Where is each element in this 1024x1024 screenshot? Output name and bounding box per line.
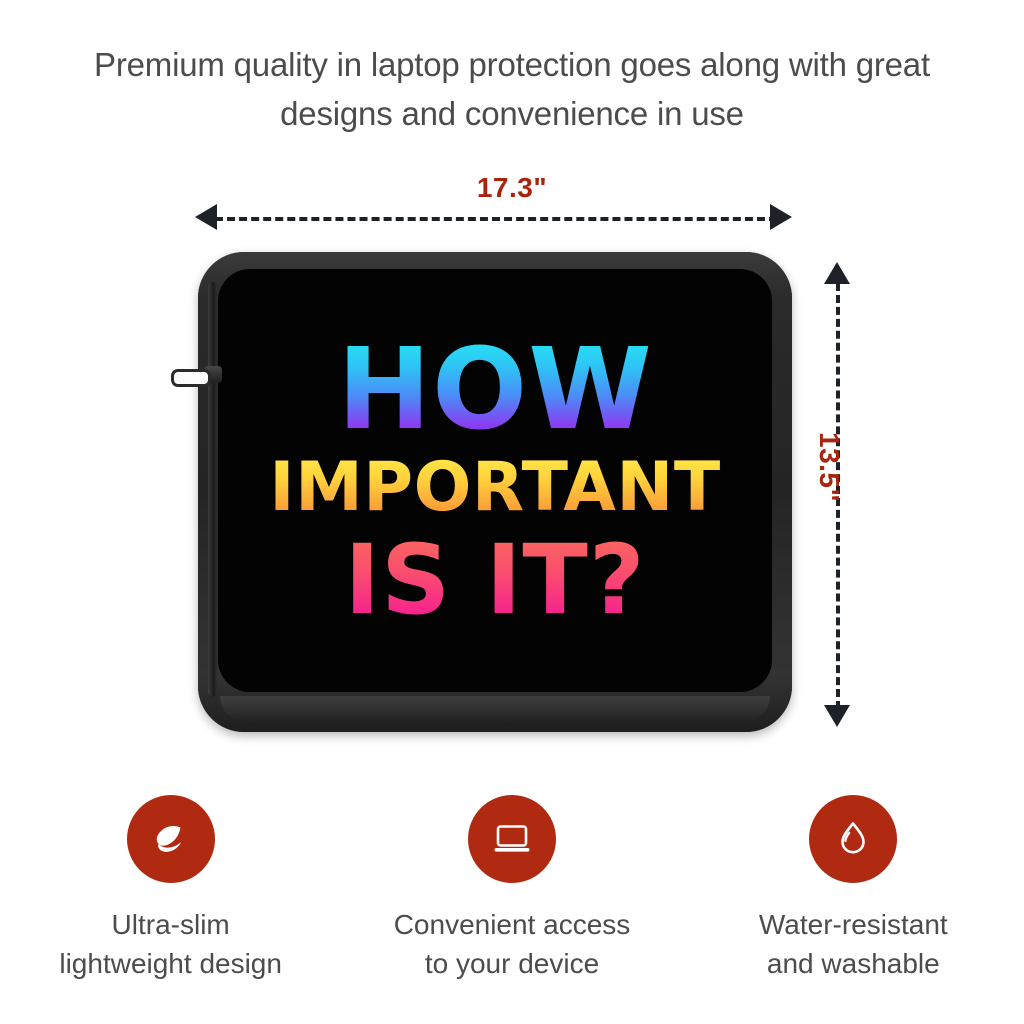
height-dimension-label: 13.5" [813,432,845,502]
sleeve-bottom-seam [220,696,770,722]
feature-badge [468,795,556,883]
feature-label: Water-resistant and washable [759,905,948,983]
feature-item-convenient-access: Convenient access to your device [341,795,682,983]
feature-label-line-2: lightweight design [59,944,282,983]
feature-item-ultra-slim: Ultra-slim lightweight design [0,795,341,983]
feature-badge [127,795,215,883]
feature-list: Ultra-slim lightweight design Convenient… [0,795,1024,983]
water-drop-icon [829,815,877,863]
laptop-icon [487,814,537,864]
feature-label-line-1: Ultra-slim [59,905,282,944]
headline-line-2: designs and convenience in use [0,89,1024,138]
page-headline: Premium quality in laptop protection goe… [0,40,1024,138]
width-dimension-line [215,217,777,221]
product-image-laptop-sleeve: HOW IMPORTANT IS IT? [198,252,792,732]
zipper-track [208,282,217,697]
artwork-line-3: IS IT? [344,532,645,628]
feature-item-water-resistant: Water-resistant and washable [683,795,1024,983]
sleeve-artwork: HOW IMPORTANT IS IT? [218,269,772,692]
arrow-down-icon [824,705,850,727]
width-dimension-label: 17.3" [0,172,1024,204]
headline-line-1: Premium quality in laptop protection goe… [0,40,1024,89]
feature-label: Convenient access to your device [394,905,631,983]
feather-icon [147,815,195,863]
artwork-line-2: IMPORTANT [269,454,720,522]
sleeve-body: HOW IMPORTANT IS IT? [198,252,792,732]
feature-label-line-2: and washable [759,944,948,983]
arrow-right-icon [770,204,792,230]
feature-badge [809,795,897,883]
artwork-line-1: HOW [337,334,652,446]
zipper-pull-icon [171,369,211,387]
arrow-up-icon [824,262,850,284]
arrow-left-icon [195,204,217,230]
feature-label-line-2: to your device [394,944,631,983]
feature-label: Ultra-slim lightweight design [59,905,282,983]
feature-label-line-1: Convenient access [394,905,631,944]
feature-label-line-1: Water-resistant [759,905,948,944]
